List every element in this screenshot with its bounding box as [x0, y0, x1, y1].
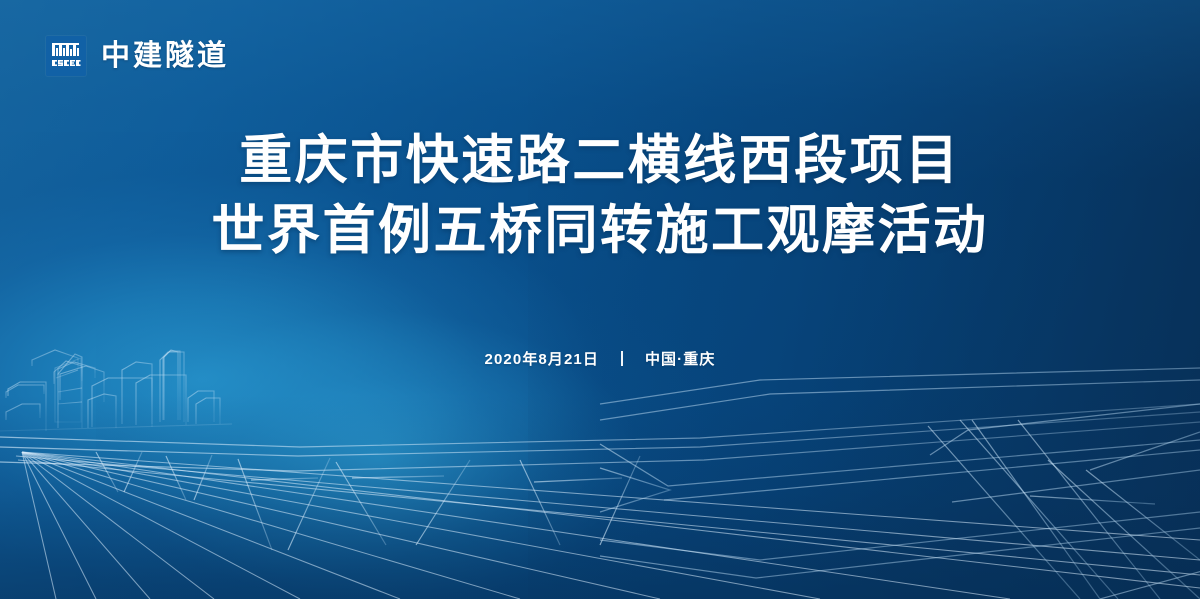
event-date: 2020年8月21日	[485, 348, 599, 369]
background-shade-bottom	[0, 395, 1200, 599]
brand-logo-text: 中建隧道	[101, 42, 229, 71]
poster-subtitle: 2020年8月21日 中国·重庆	[0, 348, 1200, 369]
poster-canvas: 中建隧道 重庆市快速路二横线西段项目 世界首例五桥同转施工观摩活动 2020年8…	[0, 0, 1200, 599]
poster-title: 重庆市快速路二横线西段项目 世界首例五桥同转施工观摩活动	[0, 126, 1200, 266]
title-line-1: 重庆市快速路二横线西段项目	[0, 126, 1200, 196]
cscec-logo-icon	[46, 36, 86, 76]
subtitle-separator	[621, 351, 623, 366]
event-location: 中国·重庆	[645, 348, 716, 369]
title-line-2: 世界首例五桥同转施工观摩活动	[0, 196, 1200, 266]
brand-logo[interactable]: 中建隧道	[46, 36, 229, 76]
